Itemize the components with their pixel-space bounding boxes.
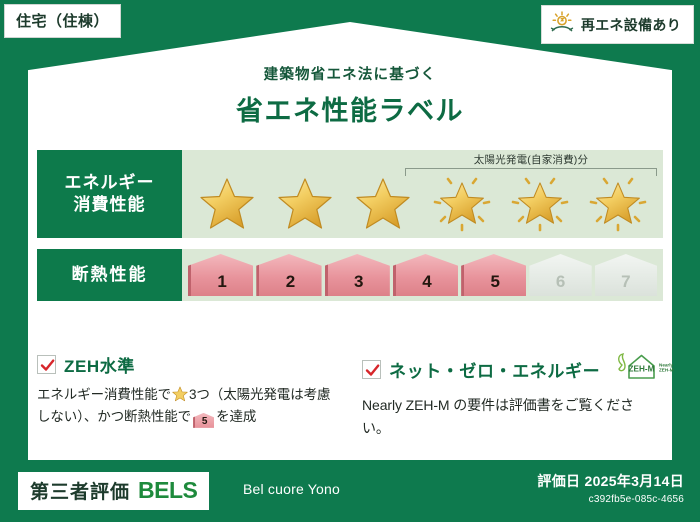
check-icon	[40, 358, 55, 373]
svg-text:ZEH-M: ZEH-M	[629, 365, 655, 374]
netzero-title: ネット・ゼロ・エネルギー	[389, 357, 600, 382]
zeh-body-part1: エネルギー消費性能で	[37, 387, 171, 402]
energy-performance-label: エネルギー 消費性能	[37, 150, 182, 238]
solar-annotation-caption: 太陽光発電(自家消費)分	[405, 152, 657, 167]
gold-star-icon	[277, 177, 333, 231]
zeh-m-logo-icon: ZEH-M Nearly ZEH-M	[614, 352, 674, 387]
renewable-equipment-badge: 再エネ設備あり	[541, 5, 694, 44]
sparkle-icon	[587, 173, 649, 233]
zeh-body: エネルギー消費性能で3つ（太陽光発電は考慮しない）、かつ断熱性能で5を達成	[37, 384, 336, 428]
grade-badge-6: 6	[529, 254, 591, 296]
star-cell	[196, 173, 258, 233]
insulation-performance-label: 断熱性能	[37, 249, 182, 301]
insulation-performance-row: 断熱性能 1 2 3 4 5 6 7	[37, 249, 663, 301]
title-subtitle: 建築物省エネ法に基づく	[0, 63, 700, 84]
grade-badge-7: 7	[595, 254, 657, 296]
mini-grade-badge: 5	[193, 413, 214, 428]
grade-badge-1: 1	[188, 254, 253, 296]
evaluation-date: 評価日 2025年3月14日	[537, 471, 684, 491]
renewable-badge-label: 再エネ設備あり	[581, 15, 681, 35]
energy-label-line2: 消費性能	[74, 194, 146, 216]
star-rating	[182, 170, 663, 236]
bels-en-label: BELS	[138, 477, 197, 504]
star-cell	[352, 173, 414, 233]
netzero-checkbox[interactable]	[362, 360, 381, 379]
netzero-statement: ネット・ゼロ・エネルギー ZEH-M Nearly ZEH-M Nearly Z…	[350, 352, 663, 439]
evaluation-id: c392fb5e-085c-4656	[537, 494, 684, 505]
svg-text:ZEH-M: ZEH-M	[659, 368, 674, 373]
star-cell-solar	[587, 173, 649, 233]
star-cell-solar	[509, 173, 571, 233]
sparkle-icon	[431, 173, 493, 233]
grade-badge-2: 2	[256, 254, 321, 296]
grade-badge-5: 5	[461, 254, 526, 296]
solar-sun-icon	[550, 11, 574, 38]
grade-badge-3: 3	[325, 254, 390, 296]
star-cell-solar	[431, 173, 493, 233]
energy-star-panel: 太陽光発電(自家消費)分	[182, 150, 663, 238]
check-icon	[365, 363, 380, 378]
zeh-body-part3: を達成	[216, 409, 256, 424]
zeh-body-star-text: 3つ（太陽光発電	[189, 387, 290, 402]
evaluation-info: 評価日 2025年3月14日 c392fb5e-085c-4656	[537, 471, 684, 505]
energy-performance-label: 住宅（住棟） 再エネ設備あり 建築物省エネ法に基づく 省エ	[0, 0, 700, 522]
footer-bar: 第三者評価 BELS Bel cuore Yono 評価日 2025年3月14日…	[0, 460, 700, 522]
gold-star-icon	[355, 177, 411, 231]
bels-certification-box: 第三者評価 BELS	[18, 472, 209, 510]
building-type-tag: 住宅（住棟）	[4, 4, 121, 38]
insulation-grades: 1 2 3 4 5 6 7	[182, 249, 663, 301]
metrics-container: エネルギー 消費性能 太陽光発電(自家消費)分	[37, 150, 663, 301]
property-name: Bel cuore Yono	[243, 481, 340, 497]
energy-performance-row: エネルギー 消費性能 太陽光発電(自家消費)分	[37, 150, 663, 238]
title-block: 建築物省エネ法に基づく 省エネ性能ラベル	[0, 63, 700, 128]
star-cell	[274, 173, 336, 233]
statements-container: ZEH水準 エネルギー消費性能で3つ（太陽光発電は考慮しない）、かつ断熱性能で5…	[37, 352, 663, 439]
mini-gold-star-icon	[172, 386, 188, 402]
sparkle-icon	[509, 173, 571, 233]
zeh-title: ZEH水準	[64, 352, 135, 377]
bels-jp-label: 第三者評価	[30, 477, 130, 504]
grade-badge-4: 4	[393, 254, 458, 296]
energy-label-line1: エネルギー	[65, 172, 155, 194]
insulation-grade-panel: 1 2 3 4 5 6 7	[182, 249, 663, 301]
page-title: 省エネ性能ラベル	[0, 89, 700, 128]
netzero-body: Nearly ZEH-M の要件は評価書をご覧ください。	[362, 394, 659, 439]
zeh-checkbox[interactable]	[37, 355, 56, 374]
zeh-statement-header: ZEH水準	[37, 352, 336, 377]
netzero-statement-header: ネット・ゼロ・エネルギー ZEH-M Nearly ZEH-M	[362, 352, 659, 387]
gold-star-icon	[199, 177, 255, 231]
zeh-statement: ZEH水準 エネルギー消費性能で3つ（太陽光発電は考慮しない）、かつ断熱性能で5…	[37, 352, 350, 439]
